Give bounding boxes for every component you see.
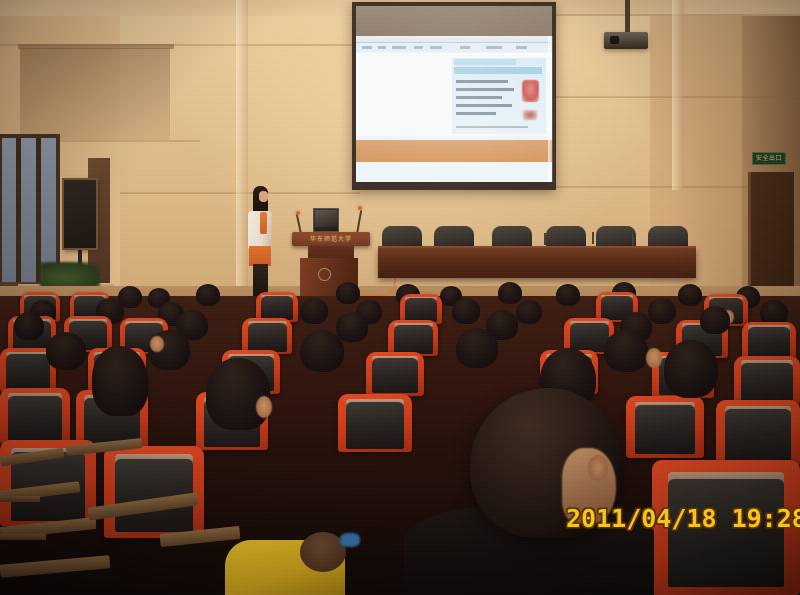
auditorium-seat (734, 356, 800, 404)
wall-seam (556, 186, 746, 188)
audience-head (300, 330, 344, 372)
auditorium-seat (242, 318, 292, 354)
toolbar-item (516, 46, 527, 49)
podium-emblem (318, 268, 331, 281)
toolbar-item (430, 46, 442, 49)
audience-head (556, 284, 580, 306)
seat-cushion (725, 409, 791, 462)
exit-sign-label: 安全出口 (756, 156, 782, 162)
wall-pilaster (236, 0, 248, 300)
audience-head (336, 282, 360, 304)
audience-head (648, 298, 676, 324)
toolbar-item (378, 46, 386, 49)
seat-cushion (6, 354, 50, 389)
seat-cushion (570, 323, 609, 352)
slide-menubar-row (356, 43, 552, 52)
loudspeaker-box (62, 178, 98, 250)
wall-pilaster (672, 0, 684, 190)
slide-footer-area (356, 162, 552, 182)
toolbar-item (460, 46, 470, 49)
audience-head (336, 312, 368, 342)
seat-cushion (748, 327, 790, 357)
audience-head (14, 312, 44, 340)
projection-screen-image (356, 36, 552, 182)
wall-alcove (20, 48, 170, 140)
seat-cushion (394, 325, 433, 354)
table-microphone (632, 234, 634, 246)
auditorium-seat (626, 396, 704, 458)
auditorium-seat (388, 320, 438, 356)
audience-head (92, 346, 148, 416)
slide-text-line (456, 126, 528, 128)
audience-hand (150, 336, 164, 352)
slide-toolbar-row (356, 36, 552, 43)
seat-cushion (405, 298, 438, 322)
audience-head (456, 328, 498, 368)
slide-secondary-graphic (523, 110, 537, 120)
projector-mount-pole (625, 0, 630, 34)
slide-text-line (456, 104, 512, 107)
audience-face (256, 396, 272, 418)
auditorium-seat (742, 322, 796, 360)
podium-microphone-tip (296, 211, 300, 215)
slide-panel-title-bar (454, 67, 542, 74)
auditorium-seat (652, 460, 800, 595)
projection-screen-top-band (356, 6, 552, 36)
seat-cushion (248, 323, 287, 352)
auditorium-seat (366, 352, 424, 396)
presenter-scarf (260, 212, 267, 234)
toolbar-item (392, 46, 406, 49)
seat-cushion (261, 296, 294, 320)
podium-microphone-tip (358, 206, 362, 210)
podium-front-label: 华东师范大学 (300, 234, 362, 243)
presenter-skirt (249, 246, 271, 266)
seat-cushion (635, 405, 696, 455)
wall-alcove-edge (18, 44, 174, 49)
audience-face (646, 348, 662, 368)
toolbar-item (362, 46, 372, 49)
photograph-lecture-hall: 安全出口 (0, 0, 800, 595)
window-mullion (36, 138, 41, 282)
audience-head (206, 358, 270, 430)
toolbar-item (414, 46, 423, 49)
projector-lens (610, 36, 619, 44)
audience-head (498, 282, 522, 304)
seat-cushion (741, 363, 792, 401)
audience-head (452, 298, 480, 324)
aisle-step (0, 534, 46, 540)
laptop-screen (315, 210, 337, 227)
audience-head (664, 340, 718, 398)
aisle-step (0, 496, 40, 502)
seat-cushion (8, 396, 63, 441)
slide-panel-header (454, 59, 516, 65)
auditorium-seat (104, 446, 204, 538)
audience-head (196, 284, 220, 306)
window-mullion (16, 138, 21, 282)
seat-cushion (668, 479, 783, 587)
exit-sign: 安全出口 (752, 152, 786, 165)
presenter-face (259, 191, 268, 202)
slide-text-line (456, 88, 514, 91)
audience-head (46, 332, 86, 370)
potted-plant (40, 262, 100, 288)
auditorium-seat (0, 388, 70, 444)
audience-head (604, 330, 648, 372)
audience-head (516, 300, 542, 324)
seat-cushion (346, 402, 404, 448)
auditorium-seat (716, 400, 800, 466)
audience-head (300, 298, 328, 324)
table-microphone (544, 233, 546, 245)
slide-text-line (456, 80, 508, 83)
slide-seal-graphic (522, 80, 539, 102)
exit-door (748, 172, 794, 292)
foreground-person-ear (588, 455, 608, 481)
audience-blue-object (340, 533, 360, 547)
stage-panel-table (378, 248, 696, 278)
seat-cushion (372, 358, 417, 393)
auditorium-seat (338, 394, 412, 452)
table-microphone (592, 232, 594, 244)
audience-head (700, 306, 730, 334)
slide-tan-band (356, 140, 552, 162)
audience-head (678, 284, 702, 306)
toolbar-item (486, 46, 502, 49)
slide-text-line (456, 112, 496, 115)
screen-edge-highlight (548, 36, 553, 182)
slide-text-line (456, 96, 502, 99)
